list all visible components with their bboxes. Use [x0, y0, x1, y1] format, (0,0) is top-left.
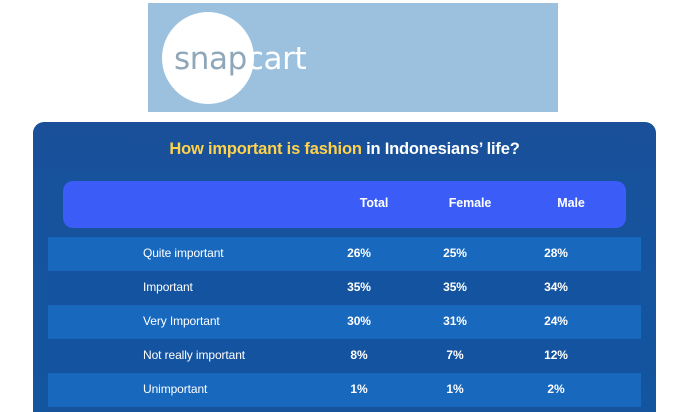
logo-text-cart: cart — [247, 41, 306, 77]
row-value-male: 2% — [501, 382, 611, 396]
row-value-female: 31% — [400, 314, 510, 328]
row-value-total: 8% — [304, 348, 414, 362]
table-row: Very Important 30% 31% 24% — [48, 305, 641, 339]
row-value-male: 28% — [501, 246, 611, 260]
page-title-accent: How important is fashion — [169, 140, 361, 158]
row-value-female: 35% — [400, 280, 510, 294]
row-value-total: 35% — [304, 280, 414, 294]
row-label: Quite important — [143, 246, 224, 260]
row-value-female: 1% — [400, 382, 510, 396]
data-table: Total Female Male Quite important 26% 25… — [48, 172, 641, 412]
row-value-total: 1% — [304, 382, 414, 396]
table-row: Quite important 26% 25% 28% — [48, 237, 641, 271]
table-row: Unimportant 1% 1% 2% — [48, 373, 641, 407]
column-header-total: Total — [319, 196, 429, 210]
column-header-male: Male — [516, 196, 626, 210]
column-header-female: Female — [415, 196, 525, 210]
row-label: Unimportant — [143, 382, 207, 396]
row-value-total: 26% — [304, 246, 414, 260]
infographic-panel: How important is fashion in Indonesians’… — [33, 122, 656, 412]
row-label: Not really important — [143, 348, 245, 362]
row-value-female: 25% — [400, 246, 510, 260]
row-value-female: 7% — [400, 348, 510, 362]
page-title-plain: in Indonesians’ life? — [362, 140, 520, 158]
row-label: Very Important — [143, 314, 220, 328]
logo-wordmark: snapcart — [174, 43, 306, 75]
row-value-total: 30% — [304, 314, 414, 328]
table-header-row: Total Female Male — [63, 181, 626, 228]
row-value-male: 34% — [501, 280, 611, 294]
row-value-male: 12% — [501, 348, 611, 362]
page-title: How important is fashion in Indonesians’… — [33, 140, 656, 159]
table-row: Important 35% 35% 34% — [48, 271, 641, 305]
brand-banner: snapcart — [148, 3, 558, 112]
logo-text-snap: snap — [174, 41, 247, 77]
table-row: Not really important 8% 7% 12% — [48, 339, 641, 373]
row-value-male: 24% — [501, 314, 611, 328]
row-label: Important — [143, 280, 193, 294]
